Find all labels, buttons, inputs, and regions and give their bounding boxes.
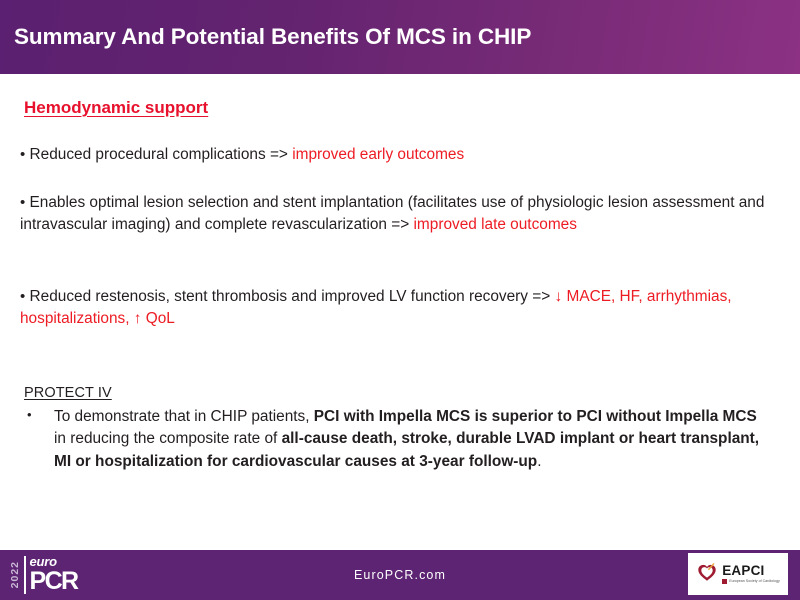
heart-icon (696, 561, 718, 588)
eapci-logo: EAPCI European Society of Cardiology (688, 553, 788, 595)
bullet-item-1: • Reduced procedural complications => im… (20, 144, 772, 166)
slide-header: Summary And Potential Benefits Of MCS in… (0, 0, 800, 74)
logo-pcr-text: PCR (30, 569, 78, 594)
bullet-2-highlight-text: improved late outcomes (414, 216, 577, 233)
section-heading-hemodynamic-support: Hemodynamic support (24, 98, 208, 118)
protect-iv-section: PROTECT IV •To demonstrate that in CHIP … (24, 385, 772, 473)
slide-footer: EuroPCR.com (0, 550, 800, 600)
bullet-2-lead-text: Enables optimal lesion selection and ste… (20, 194, 764, 233)
logo-wordmark: euro PCR (30, 555, 78, 594)
footer-website: EuroPCR.com (0, 550, 800, 600)
bullet-1-highlight-text: improved early outcomes (292, 146, 464, 163)
slide-body: Hemodynamic support • Reduced procedural… (0, 74, 800, 550)
europcr-logo: 2022 euro PCR (10, 552, 77, 597)
page-title: Summary And Potential Benefits Of MCS in… (0, 24, 531, 50)
bullet-1-lead-text: Reduced procedural complications => (25, 146, 292, 163)
bullet-marker: • (27, 406, 32, 425)
eapci-square-icon (722, 579, 727, 584)
logo-divider (24, 556, 26, 594)
protect-iv-objective: •To demonstrate that in CHIP patients, P… (24, 406, 772, 473)
bullet-item-3: • Reduced restenosis, stent thrombosis a… (20, 286, 772, 330)
protect-iv-objective-text: To demonstrate that in CHIP patients, PC… (54, 408, 759, 470)
eapci-subtitle: European Society of Cardiology (729, 580, 780, 584)
bullet-3-lead-text: Reduced restenosis, stent thrombosis and… (25, 288, 554, 305)
eapci-subtitle-row: European Society of Cardiology (722, 579, 780, 584)
eapci-wordmark: EAPCI European Society of Cardiology (722, 564, 780, 585)
eapci-name: EAPCI (722, 564, 780, 578)
logo-year: 2022 (10, 561, 21, 588)
bullet-item-2: • Enables optimal lesion selection and s… (20, 192, 772, 236)
protect-iv-label: PROTECT IV (24, 385, 772, 401)
